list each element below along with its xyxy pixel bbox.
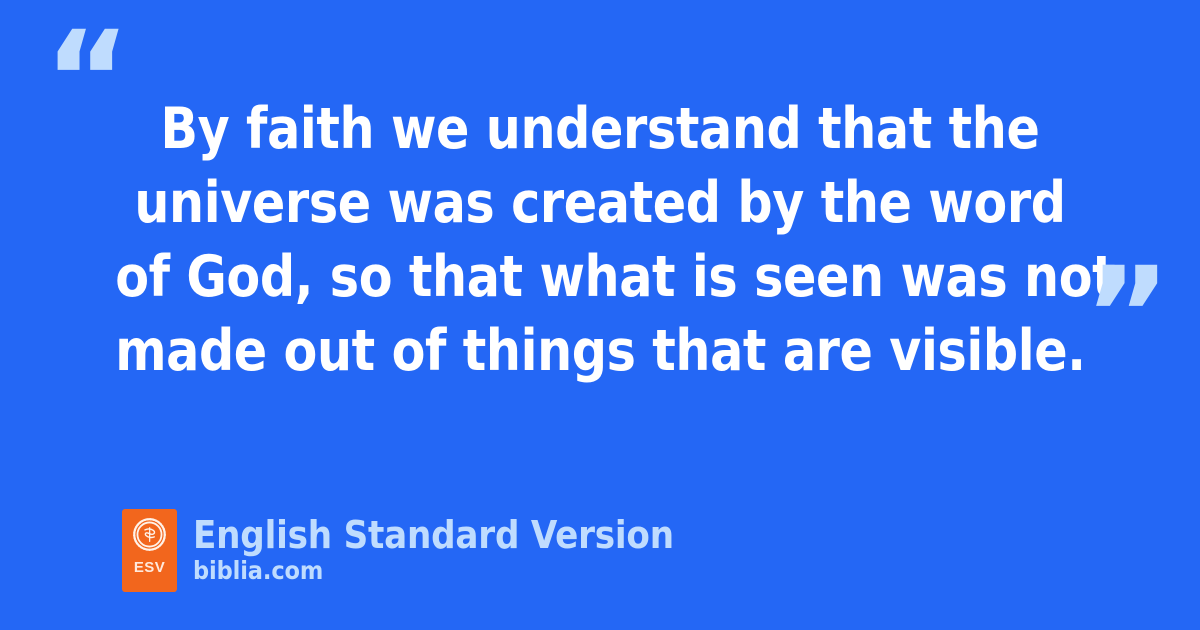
attribution-text: English Standard Version biblia.com — [193, 509, 674, 592]
esv-logo-abbr: ESV — [134, 560, 165, 575]
verse-quote-card: “ By faith we understand that the univer… — [0, 0, 1200, 630]
translation-name: English Standard Version — [193, 514, 674, 556]
website-link[interactable]: biblia.com — [193, 556, 674, 586]
closing-quote-mark: ” — [1084, 250, 1169, 382]
attribution-footer: ESV English Standard Version biblia.com — [122, 509, 674, 592]
verse-line: made out of things that are visible. — [115, 314, 1085, 388]
verse-line: universe was created by the word — [115, 166, 1085, 240]
esv-seal-icon — [133, 518, 166, 551]
verse-line: By faith we understand that the — [115, 92, 1085, 166]
verse-text-block: By faith we understand that the universe… — [95, 92, 1105, 388]
verse-line: of God, so that what is seen was not — [115, 240, 1085, 314]
esv-logo-badge[interactable]: ESV — [122, 509, 177, 592]
